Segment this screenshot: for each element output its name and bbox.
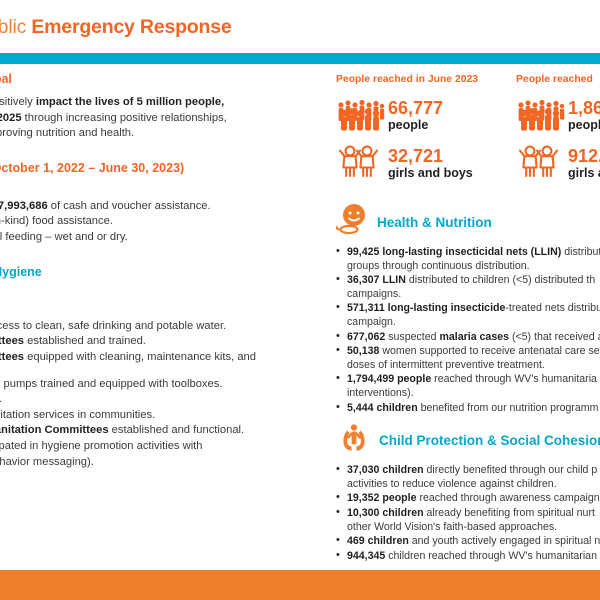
list-item: ment committees equipped with cleaning, … bbox=[0, 350, 324, 366]
teal-divider-bar bbox=[0, 53, 600, 64]
row-text-c: equipped with cleaning, maintenance kits… bbox=[24, 351, 256, 363]
list-item: 19,352 people reached through awareness … bbox=[336, 492, 600, 506]
smiley-spoon-icon bbox=[336, 202, 370, 243]
list-item: ment committees established and trained. bbox=[0, 334, 324, 350]
list-item: vided with access to clean, safe drinkin… bbox=[0, 319, 324, 335]
bullet-bold: 50,138 bbox=[347, 345, 379, 357]
bullet-line2: groups through continuous distribution. bbox=[347, 260, 530, 272]
bullet-bold: 1,794,499 people bbox=[347, 373, 431, 385]
list-item: ached with (in-kind) food assistance. bbox=[0, 214, 324, 230]
list-item: 677,062 suspected malaria cases (<5) tha… bbox=[336, 331, 600, 345]
bullet-text: -treated nets distribu bbox=[505, 302, 600, 314]
stat-children-row: 32,721 girls and boys bbox=[336, 139, 516, 187]
wash-list-part1: onstructed. habilitated. vided with acce… bbox=[0, 288, 324, 366]
crowd-people-icon bbox=[516, 98, 568, 132]
health-nutrition-section: Health & Nutrition 99,425 long-lasting i… bbox=[336, 202, 600, 416]
stats-col1-people-value: 66,777 bbox=[388, 99, 443, 118]
bullet-bold: 99,425 long-lasting insecticidal nets (L… bbox=[347, 246, 561, 258]
bullet-line2: campaigns. bbox=[347, 288, 401, 300]
bullet-text-2: (<5) that received a bbox=[509, 331, 600, 343]
row-text-a: ceiving school feeding – wet and or dry. bbox=[0, 231, 128, 243]
bullet-text: benefited from our nutrition programm bbox=[418, 402, 599, 414]
health-nutrition-title: Health & Nutrition bbox=[377, 215, 492, 230]
bullet-text: distribute bbox=[561, 246, 600, 258]
list-item: 50,138 women supported to receive antena… bbox=[336, 345, 600, 372]
list-item: 37,030 children directly benefited throu… bbox=[336, 464, 600, 491]
stats-cumulative: People reached bbox=[516, 74, 600, 187]
bullet-bold: 36,307 LLIN bbox=[347, 274, 406, 286]
response-goal-heading: esponse goal bbox=[0, 72, 324, 86]
bullet-bold: 10,300 children bbox=[347, 507, 424, 519]
page-title-light: n Republic bbox=[0, 16, 26, 38]
stats-section: People reached in June 2023 bbox=[336, 74, 600, 198]
list-item: 571,311 long-lasting insecticide-treated… bbox=[336, 302, 600, 329]
row-text-a: ached with (in-kind) food assistance. bbox=[0, 215, 113, 227]
stat-children-row: 912, girls a bbox=[516, 139, 600, 187]
list-item: es (WASH behavior messaging). bbox=[0, 455, 324, 471]
goal-line2-c: 2025 bbox=[0, 112, 22, 124]
row-text-a: access to sanitation services in communi… bbox=[0, 409, 155, 421]
row-text-c: established and trained. bbox=[24, 335, 146, 347]
row-text-b: giene and Sanitation Committees bbox=[0, 424, 109, 436]
list-item: access to sanitation services in communi… bbox=[0, 408, 324, 424]
bullet-bold: 5,444 children bbox=[347, 402, 418, 414]
bullet-text: directly benefited through our child p bbox=[424, 464, 598, 476]
stats-col1-people-unit: people bbox=[388, 118, 443, 132]
stats-col1-children-value: 32,721 bbox=[388, 147, 473, 166]
bullet-line2: interventions). bbox=[347, 387, 414, 399]
left-column: esponse goal us goal: to positively impa… bbox=[0, 72, 324, 470]
infographic-page: n Republic Emergency Response esponse go… bbox=[0, 0, 600, 600]
bullet-text: and youth actively engaged in spiritual … bbox=[409, 535, 600, 547]
bullet-line2: doses of intermittent preventive treatme… bbox=[347, 359, 545, 371]
page-title-bold: Emergency Response bbox=[31, 16, 231, 38]
row-text-a: o have participated in hygiene promotion… bbox=[0, 440, 203, 452]
bullet-line2: campaign. bbox=[347, 316, 396, 328]
crowd-people-icon bbox=[336, 98, 388, 132]
row-text-b: ment committees bbox=[0, 351, 24, 363]
list-item: 469 children and youth actively engaged … bbox=[336, 535, 600, 549]
list-item: giene and Sanitation Committees establis… bbox=[0, 423, 324, 439]
bullet-text: distributed to children (<5) distributed… bbox=[406, 274, 595, 286]
bullet-text: women supported to receive antenatal car… bbox=[379, 345, 599, 357]
stats-col1-children-unit: girls and boys bbox=[388, 166, 473, 180]
row-text-c: of cash and voucher assistance. bbox=[48, 200, 211, 212]
row-text-a: vided with access to clean, safe drinkin… bbox=[0, 320, 226, 332]
goal-line2-d: through increasing positive relationship… bbox=[22, 112, 227, 124]
health-nutrition-header: Health & Nutrition bbox=[336, 202, 600, 242]
row-text-c: constructed. bbox=[0, 393, 2, 405]
bullet-bold: 19,352 people bbox=[347, 492, 417, 504]
list-item: s constructed. bbox=[0, 392, 324, 408]
stat-people-row: 1,86 peopl bbox=[516, 91, 600, 139]
wash-heading: nitation & Hygiene bbox=[0, 265, 324, 279]
health-nutrition-bullets: 99,425 long-lasting insecticidal nets (L… bbox=[336, 246, 600, 416]
bullet-text: reached through WV's humanitaria bbox=[431, 373, 597, 385]
bullet-text: suspected bbox=[385, 331, 439, 343]
list-item: onstructed. bbox=[0, 288, 324, 304]
row-text-b: ment committees bbox=[0, 335, 24, 347]
food-assistance-list: ached with $ 7,993,686 of cash and vouch… bbox=[0, 199, 324, 246]
goal-line1-a: us goal: to positively bbox=[0, 96, 36, 108]
stats-col1-title: People reached in June 2023 bbox=[336, 74, 516, 85]
bullet-text: children reached through WV's humanitari… bbox=[385, 550, 597, 562]
two-children-icon bbox=[516, 143, 568, 183]
bottom-orange-bar bbox=[0, 570, 600, 600]
bullet-line2: other World Vision's faith-based approac… bbox=[347, 521, 557, 533]
child-protection-bullets: 37,030 children directly benefited throu… bbox=[336, 464, 600, 564]
list-item: man-powered pumps trained and equipped w… bbox=[0, 377, 324, 393]
bullet-line2: activities to reduce violence against ch… bbox=[347, 478, 557, 490]
goal-line3: ence, and improving nutrition and health… bbox=[0, 126, 324, 142]
list-item: 36,307 LLIN distributed to children (<5)… bbox=[336, 274, 600, 301]
list-item: o have participated in hygiene promotion… bbox=[0, 439, 324, 455]
hands-child-icon bbox=[336, 420, 372, 461]
stats-col2-people-value: 1,86 bbox=[568, 99, 600, 118]
bullet-bold: 571,311 long-lasting insecticide bbox=[347, 302, 505, 314]
list-item: habilitated. bbox=[0, 303, 324, 319]
stat-people-row: 66,777 people bbox=[336, 91, 516, 139]
list-item: 5,444 children benefited from our nutrit… bbox=[336, 402, 600, 416]
stats-col2-children-value: 912, bbox=[568, 147, 600, 166]
row-text-a: es (WASH behavior messaging). bbox=[0, 456, 94, 468]
child-protection-section: Child Protection & Social Cohesion 37,03… bbox=[336, 420, 600, 564]
row-text-c: established and functional. bbox=[109, 424, 245, 436]
stats-col2-people-unit: peopl bbox=[568, 118, 600, 132]
right-column: People reached in June 2023 bbox=[336, 74, 600, 564]
wash-list-part2: man-powered pumps trained and equipped w… bbox=[0, 377, 324, 471]
bullet-bold: 677,062 bbox=[347, 331, 385, 343]
row-text-b: $ 7,993,686 bbox=[0, 200, 48, 212]
bullet-bold-2: malaria cases bbox=[439, 331, 509, 343]
bullet-bold: 469 children bbox=[347, 535, 409, 547]
bullet-text: reached through awareness campaigns bbox=[417, 492, 600, 504]
stats-june-2023: People reached in June 2023 bbox=[336, 74, 516, 187]
list-item: ceiving school feeding – wet and or dry. bbox=[0, 230, 324, 246]
list-item: 99,425 long-lasting insecticidal nets (L… bbox=[336, 246, 600, 273]
response-goal-text: us goal: to positively impact the lives … bbox=[0, 95, 324, 142]
child-protection-header: Child Protection & Social Cohesion bbox=[336, 420, 600, 460]
row-text-a: man-powered pumps trained and equipped w… bbox=[0, 378, 222, 390]
child-protection-title: Child Protection & Social Cohesion bbox=[379, 433, 600, 448]
list-item: 10,300 children already benefiting from … bbox=[336, 507, 600, 534]
stats-col2-children-unit: girls a bbox=[568, 166, 600, 180]
stats-col2-title: People reached bbox=[516, 74, 600, 85]
bullet-bold: 37,030 children bbox=[347, 464, 424, 476]
goal-line1-b: impact the lives of 5 million people, bbox=[36, 96, 224, 108]
bullet-text: already benefiting from spiritual nurt bbox=[424, 507, 595, 519]
bullet-bold: 944,345 bbox=[347, 550, 385, 562]
list-item: ached with $ 7,993,686 of cash and vouch… bbox=[0, 199, 324, 215]
list-item: 1,794,499 people reached through WV's hu… bbox=[336, 373, 600, 400]
page-title: n Republic Emergency Response bbox=[0, 16, 232, 39]
highlights-heading: ighlights (October 1, 2022 – June 30, 20… bbox=[0, 161, 324, 175]
two-children-icon bbox=[336, 143, 388, 183]
list-item: 944,345 children reached through WV's hu… bbox=[336, 550, 600, 564]
